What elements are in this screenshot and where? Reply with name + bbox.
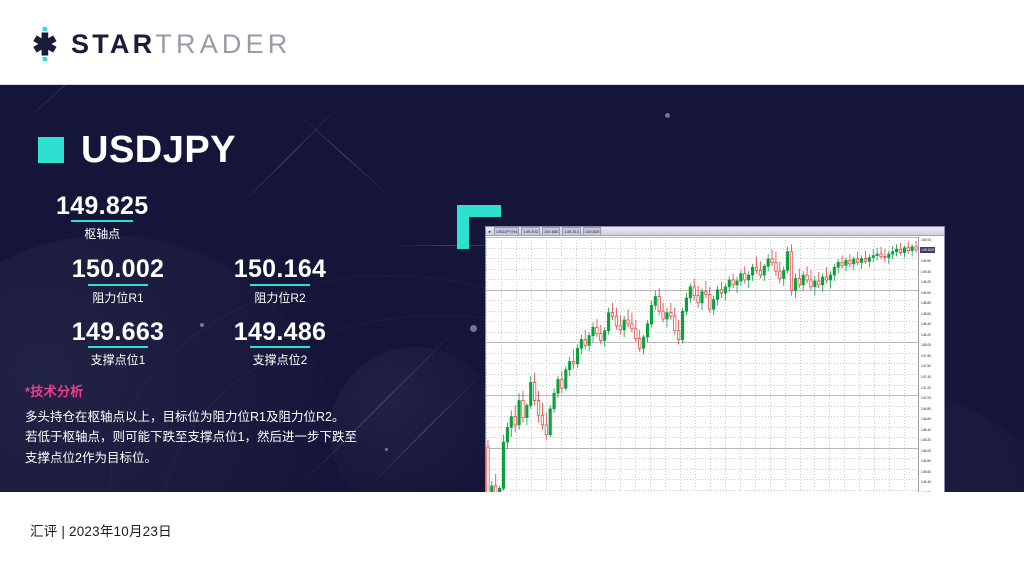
analysis-line-1: 多头持仓在枢轴点以上，目标位为阻力位R1及阻力位R2。 bbox=[25, 407, 405, 427]
y-axis-tick: 146.00 bbox=[921, 449, 931, 453]
brand-wordmark: STAR TRADER bbox=[71, 29, 292, 60]
asterisk-star-icon bbox=[28, 27, 62, 61]
y-axis-tick: 147.80 bbox=[921, 354, 931, 358]
level-resistance-1-value: 150.002 bbox=[48, 256, 188, 282]
level-underline bbox=[88, 284, 148, 286]
y-axis-tick: 145.40 bbox=[921, 480, 931, 484]
level-resistance-2-value: 150.164 bbox=[210, 256, 350, 282]
y-axis-tick: 148.60 bbox=[921, 312, 931, 316]
pivot-levels-panel: 149.825 枢轴点 150.002 阻力位R1 150.164 阻力位R2 … bbox=[38, 193, 368, 368]
brand-word-star: STAR bbox=[71, 29, 155, 60]
page-header: STAR TRADER bbox=[0, 0, 1024, 85]
y-axis-tick: 149.60 bbox=[921, 259, 931, 263]
level-support-1-label: 支撑点位1 bbox=[48, 351, 188, 368]
level-support-2-value: 149.486 bbox=[210, 319, 350, 345]
y-axis-tick: 149.00 bbox=[921, 291, 931, 295]
level-resistance-2: 150.164 阻力位R2 bbox=[210, 256, 350, 305]
level-support-1: 149.663 支撑点位1 bbox=[48, 319, 188, 368]
instrument-title-row: USDJPY bbox=[38, 131, 236, 169]
analysis-body: 多头持仓在枢轴点以上，目标位为阻力位R1及阻力位R2。 若低于枢轴点，则可能下跌… bbox=[25, 407, 405, 468]
y-axis-tick: 147.00 bbox=[921, 396, 931, 400]
support-row: 149.663 支撑点位1 149.486 支撑点位2 bbox=[38, 319, 368, 368]
level-resistance-2-label: 阻力位R2 bbox=[210, 289, 350, 306]
light-streak bbox=[240, 106, 340, 206]
level-support-2: 149.486 支撑点位2 bbox=[210, 319, 350, 368]
page-footer: 汇评 | 2023年10月23日 bbox=[0, 492, 1024, 576]
title-bullet-icon bbox=[38, 137, 64, 163]
level-support-1-value: 149.663 bbox=[48, 319, 188, 345]
chart-plot-area[interactable]: 24 Jul 202326 Jul 08:0028 Jul 20:001 Aug… bbox=[486, 237, 918, 492]
level-pivot-value: 149.825 bbox=[56, 193, 148, 219]
y-axis-tick: 150.00 bbox=[921, 238, 931, 242]
chart-window[interactable]: ► USDJPY,H4 149.402 149.885 149.314 149.… bbox=[485, 226, 945, 492]
y-axis-tick: 145.60 bbox=[921, 470, 931, 474]
analysis-line-2: 若低于枢轴点，则可能下跌至支撑点位1，然后进一步下跌至 bbox=[25, 427, 405, 447]
footer-caption: 汇评 | 2023年10月23日 bbox=[30, 520, 172, 540]
level-pivot: 149.825 枢轴点 bbox=[56, 193, 148, 242]
chart-titlebar: ► USDJPY,H4 149.402 149.885 149.314 149.… bbox=[486, 227, 944, 236]
level-underline bbox=[88, 346, 148, 348]
light-streak bbox=[300, 115, 390, 196]
y-axis-tick: 148.20 bbox=[921, 333, 931, 337]
brand-logo: STAR TRADER bbox=[28, 27, 292, 61]
analysis-line-3: 支撑点位2作为目标位。 bbox=[25, 448, 405, 468]
brand-word-trader: TRADER bbox=[155, 29, 291, 60]
level-support-2-label: 支撑点位2 bbox=[210, 351, 350, 368]
accent-dot bbox=[470, 325, 477, 332]
chart-body: 24 Jul 202326 Jul 08:0028 Jul 20:001 Aug… bbox=[486, 237, 944, 492]
chart-ohlc-high: 149.885 bbox=[542, 227, 560, 236]
y-axis-tick: 146.60 bbox=[921, 417, 931, 421]
y-axis-tick: 147.60 bbox=[921, 364, 931, 368]
technical-analysis-block: *技术分析 多头持仓在枢轴点以上，目标位为阻力位R1及阻力位R2。 若低于枢轴点… bbox=[25, 381, 405, 468]
y-axis-tick: 146.20 bbox=[921, 438, 931, 442]
main-stage: USDJPY 149.825 枢轴点 150.002 阻力位R1 150.164… bbox=[0, 85, 1024, 492]
chart-ohlc-open: 149.402 bbox=[521, 227, 539, 236]
y-axis-tick: 149.20 bbox=[921, 280, 931, 284]
y-axis-tick: 149.40 bbox=[921, 270, 931, 274]
level-resistance-1: 150.002 阻力位R1 bbox=[48, 256, 188, 305]
level-underline bbox=[250, 346, 310, 348]
y-axis-tick: 146.40 bbox=[921, 428, 931, 432]
level-underline bbox=[250, 284, 310, 286]
y-axis-tick: 147.20 bbox=[921, 386, 931, 390]
level-resistance-1-label: 阻力位R1 bbox=[48, 289, 188, 306]
y-axis-tick: 147.40 bbox=[921, 375, 931, 379]
y-axis-tick: 145.80 bbox=[921, 459, 931, 463]
current-price-tag: 149.825 bbox=[920, 247, 935, 253]
y-axis-tick: 148.80 bbox=[921, 301, 931, 305]
chart-ohlc-low: 149.314 bbox=[562, 227, 580, 236]
level-underline bbox=[71, 220, 133, 222]
candlestick-series bbox=[486, 237, 918, 492]
chart-cursor-icon: ► bbox=[488, 228, 492, 235]
pivot-row: 149.825 枢轴点 bbox=[38, 193, 368, 243]
chart-symbol-label: USDJPY,H4 bbox=[494, 227, 520, 236]
analysis-heading: *技术分析 bbox=[25, 381, 405, 400]
light-streak bbox=[20, 85, 154, 126]
chart-y-axis: 150.00149.80149.60149.40149.20149.00148.… bbox=[918, 237, 944, 492]
page-title: USDJPY bbox=[81, 131, 236, 169]
y-axis-tick: 148.00 bbox=[921, 343, 931, 347]
accent-dot bbox=[665, 113, 670, 118]
y-axis-tick: 146.80 bbox=[921, 407, 931, 411]
y-axis-tick: 148.40 bbox=[921, 322, 931, 326]
chart-ohlc-close: 149.825 bbox=[583, 227, 601, 236]
level-pivot-label: 枢轴点 bbox=[56, 225, 148, 242]
resistance-row: 150.002 阻力位R1 150.164 阻力位R2 bbox=[38, 256, 368, 305]
